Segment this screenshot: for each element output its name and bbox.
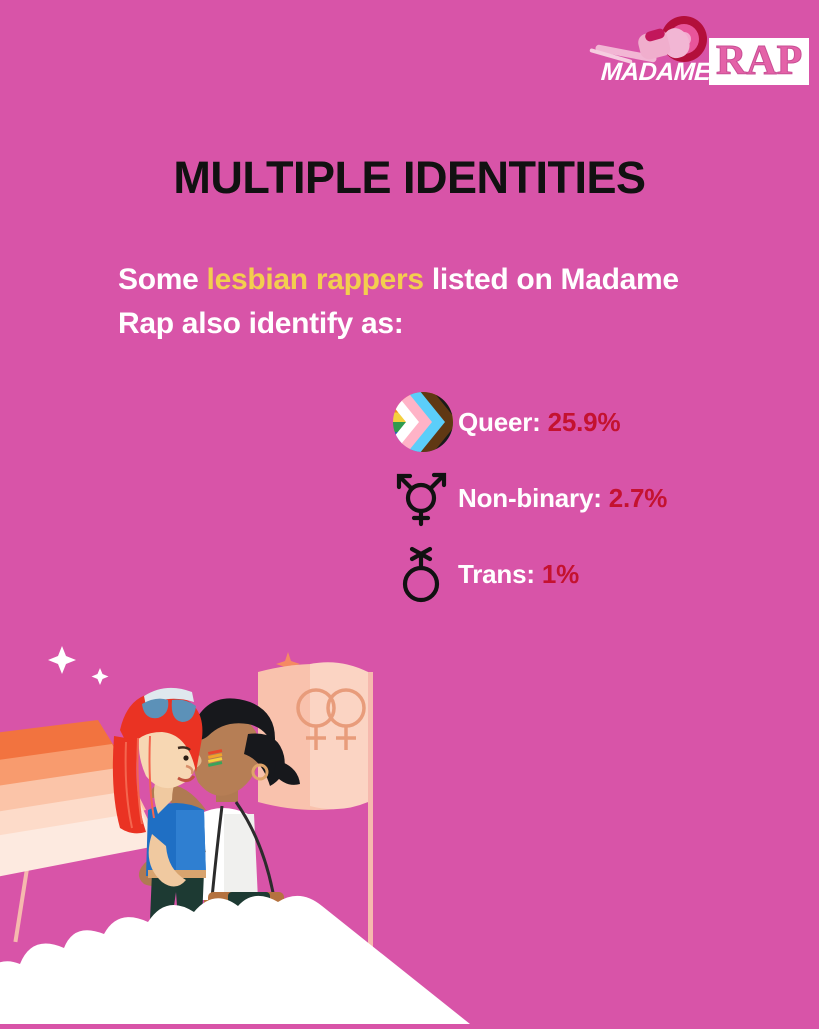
two-women-embracing-illustration — [0, 624, 470, 1024]
page-title: MULTIPLE IDENTITIES — [0, 152, 819, 204]
non-binary-glyph — [397, 543, 449, 605]
transgender-glyph — [395, 468, 451, 528]
subtitle-part-one: Some — [118, 263, 207, 296]
stat-name-trans: Trans: — [458, 559, 535, 589]
stat-value-queer: 25.9% — [548, 407, 621, 437]
subtitle: Some lesbian rappers listed on Madame Ra… — [118, 258, 718, 346]
cloud — [0, 896, 470, 1024]
stat-label-queer: Queer: 25.9% — [458, 407, 620, 438]
stat-value-non-binary: 2.7% — [609, 483, 667, 513]
illustration-svg — [0, 624, 470, 1024]
stat-row-trans: Trans: 1% — [392, 536, 667, 612]
non-binary-symbol-icon — [392, 543, 454, 605]
subtitle-highlight: lesbian rappers — [207, 263, 424, 296]
stat-value-trans: 1% — [542, 559, 579, 589]
stat-row-non-binary: Non-binary: 2.7% — [392, 460, 667, 536]
madame-rap-logo[interactable]: MADAME RAP — [601, 18, 791, 90]
right-flag-pole — [368, 672, 373, 972]
progress-pride-flag-icon — [392, 391, 454, 453]
stat-name-non-binary: Non-binary: — [458, 483, 602, 513]
stat-row-queer: Queer: 25.9% — [392, 384, 667, 460]
eye — [183, 755, 188, 760]
stat-label-trans: Trans: 1% — [458, 559, 579, 590]
sparkles-icon — [48, 646, 109, 685]
stat-name-queer: Queer: — [458, 407, 541, 437]
logo-word-rap: RAP — [716, 40, 802, 82]
logo-word-rap-box: RAP — [709, 38, 809, 85]
pride-chevron-icon — [393, 392, 453, 452]
transgender-symbol-icon — [392, 467, 454, 529]
stats-list: Queer: 25.9% Non-binary: 2.7% — [392, 384, 667, 612]
stat-label-non-binary: Non-binary: 2.7% — [458, 483, 667, 514]
logo-word-madame: MADAME — [600, 58, 712, 87]
